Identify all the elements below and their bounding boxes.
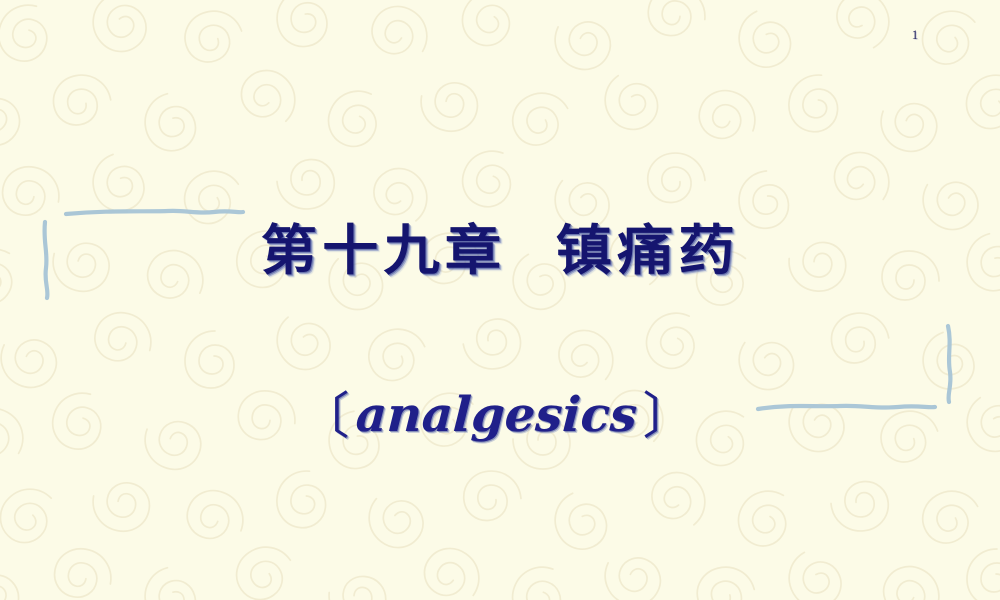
page-title: 第十九章 镇痛药	[260, 224, 739, 278]
subtitle-container: 〔analgesics〕	[0, 376, 1000, 448]
close-bracket-glyph: 〕	[642, 387, 692, 445]
bracket-top-left-horizontal	[66, 211, 243, 214]
subtitle: 〔analgesics〕	[300, 376, 693, 448]
presentation-slide: 1 第十九章 镇痛药 〔analgesics〕	[0, 0, 1000, 600]
corner-bracket-decorations	[0, 0, 1000, 600]
subtitle-word: analgesics	[348, 387, 644, 443]
page-number: 1	[903, 27, 927, 43]
swirl-pattern-background	[0, 0, 1000, 600]
open-bracket-glyph: 〔	[300, 387, 350, 445]
title-container: 第十九章 镇痛药	[0, 224, 1000, 278]
